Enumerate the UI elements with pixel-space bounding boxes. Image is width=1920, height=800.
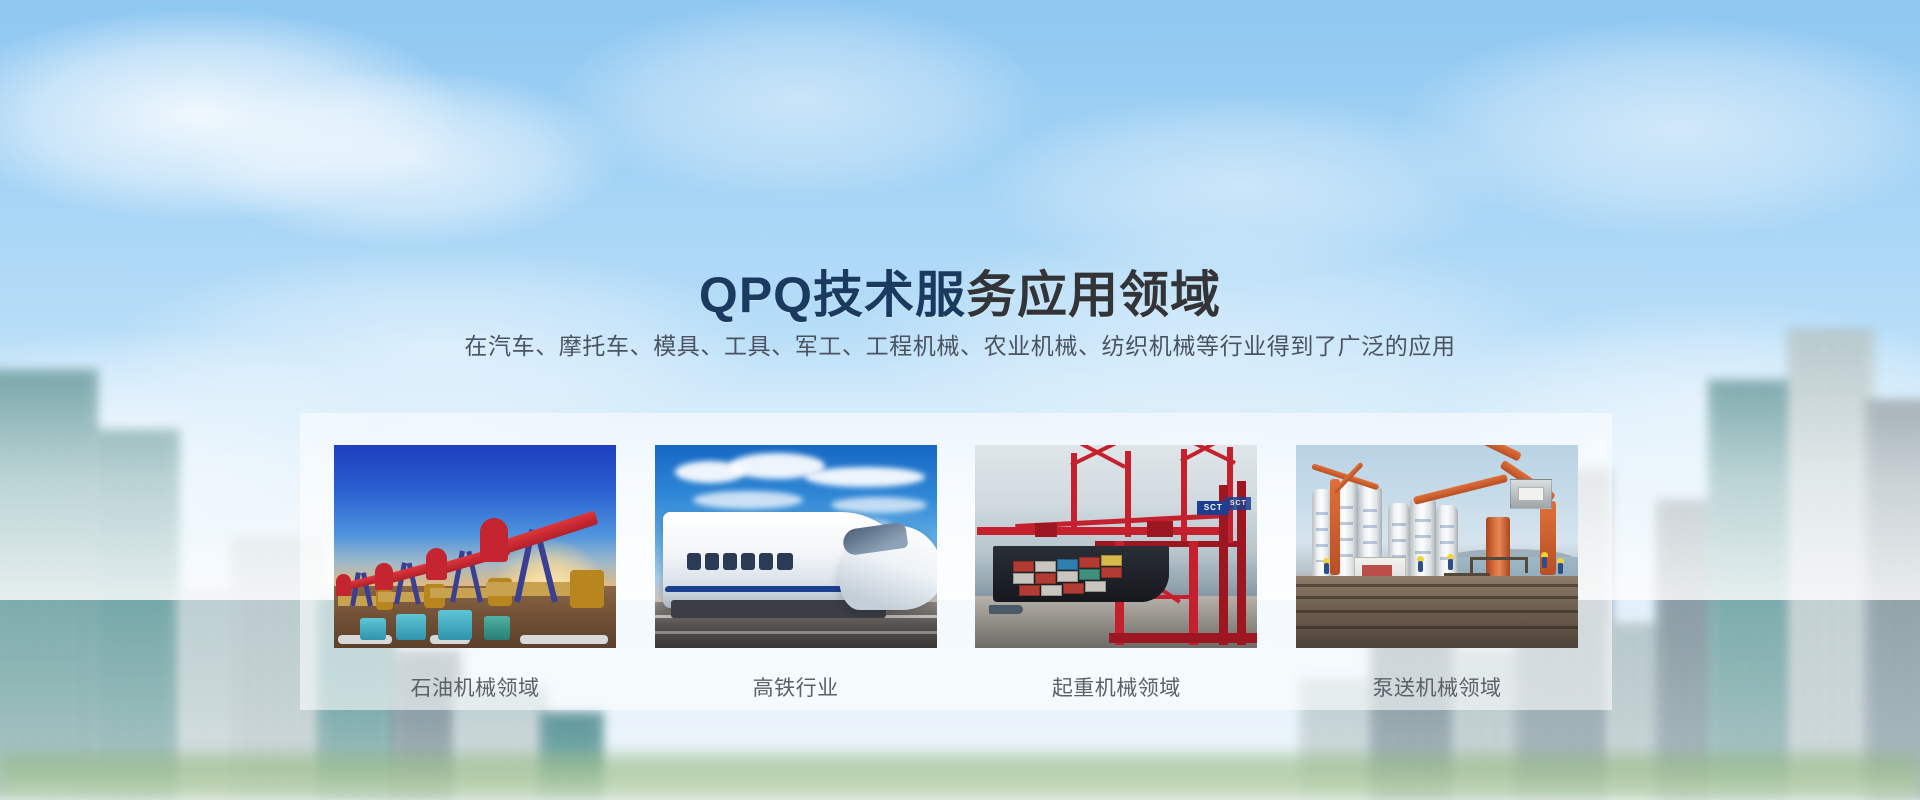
cloud-wisp bbox=[0, 10, 460, 220]
card-label: 起重机械领域 bbox=[1052, 672, 1181, 702]
cloud-wisp bbox=[1400, 20, 1920, 235]
cloud-wisp bbox=[980, 95, 1500, 275]
application-cards-panel: 石油机械领域 bbox=[300, 413, 1612, 710]
card-label: 石油机械领域 bbox=[411, 672, 540, 702]
card-high-speed-rail[interactable]: 高铁行业 bbox=[655, 445, 937, 710]
oil-pumpjacks-photo bbox=[334, 445, 616, 648]
page-title-primary: QPQ技术服 bbox=[699, 267, 966, 323]
card-oil-machinery[interactable]: 石油机械领域 bbox=[334, 445, 616, 710]
card-label: 泵送机械领域 bbox=[1372, 672, 1501, 702]
cloud-wisp bbox=[560, 0, 1040, 200]
high-speed-train-photo bbox=[655, 445, 937, 648]
hero-banner: QPQ技术服务应用领域 在汽车、摩托车、模具、工具、军工、工程机械、农业机械、纺… bbox=[0, 0, 1920, 800]
card-lifting-machinery[interactable]: SCT SCT 起重机械领域 bbox=[975, 445, 1257, 710]
page-title-secondary: 务应用领域 bbox=[966, 267, 1221, 323]
port-gantry-cranes-photo: SCT SCT bbox=[975, 445, 1257, 648]
page-subtitle: 在汽车、摩托车、模具、工具、军工、工程机械、农业机械、纺织机械等行业得到了广泛的… bbox=[0, 327, 1920, 361]
cloud-wisp bbox=[190, 70, 620, 245]
card-label: 高铁行业 bbox=[753, 672, 839, 702]
crane-logo-text-far: SCT bbox=[1225, 497, 1251, 510]
concrete-pumping-photo bbox=[1296, 445, 1578, 648]
card-pumping-machinery[interactable]: 泵送机械领域 bbox=[1296, 445, 1578, 710]
page-title: QPQ技术服务应用领域 bbox=[0, 268, 1920, 323]
